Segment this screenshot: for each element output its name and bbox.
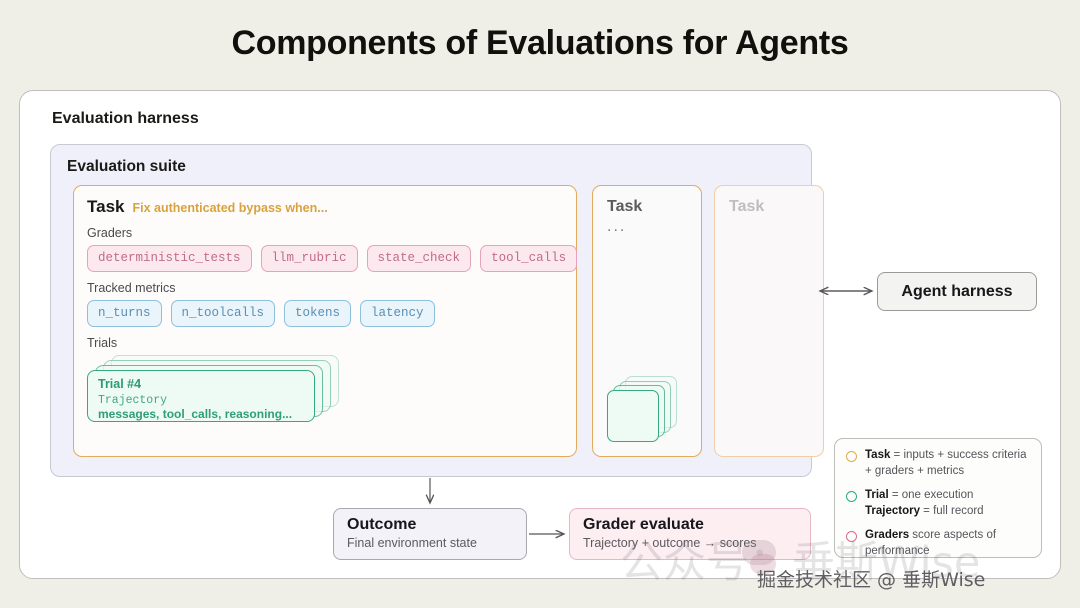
trials-label: Trials xyxy=(87,336,563,350)
tracked-metrics-label: Tracked metrics xyxy=(87,281,563,295)
trial-card-front xyxy=(607,390,659,442)
trial-title: Trial #4 xyxy=(98,377,304,391)
circle-icon xyxy=(846,491,857,502)
grader-chip[interactable]: state_check xyxy=(367,245,472,272)
task-card-second[interactable]: Task ... xyxy=(592,185,702,457)
agent-harness-box[interactable]: Agent harness xyxy=(877,272,1037,311)
trial-card-front[interactable]: Trial #4 Trajectory messages, tool_calls… xyxy=(87,370,315,422)
legend-item-text: Trial = one execution Trajectory = full … xyxy=(865,488,984,519)
task-ellipsis: ... xyxy=(607,218,687,236)
legend-term: Trial xyxy=(865,489,889,501)
metrics-chip-list: n_turns n_toolcalls tokens latency xyxy=(87,300,563,327)
watermark-logo-icon xyxy=(742,540,776,565)
outcome-subtitle: Final environment state xyxy=(347,536,513,550)
legend-rest: = inputs + success criteria + graders + … xyxy=(865,449,1027,477)
trials-stack-mini xyxy=(607,376,679,442)
metric-chip[interactable]: latency xyxy=(360,300,435,327)
outcome-title: Outcome xyxy=(347,516,513,534)
task-name: Task xyxy=(729,198,809,216)
graders-chip-list: deterministic_tests llm_rubric state_che… xyxy=(87,245,563,272)
trajectory-label: Trajectory xyxy=(98,394,304,407)
legend-rest-2: = full record xyxy=(920,505,984,517)
legend-item-trial: Trial = one execution Trajectory = full … xyxy=(846,488,1030,519)
task-description: Fix authenticated bypass when... xyxy=(133,201,328,215)
trajectory-items: messages, tool_calls, reasoning... xyxy=(98,407,304,421)
task-card-main[interactable]: Task Fix authenticated bypass when... Gr… xyxy=(73,185,577,457)
metric-chip[interactable]: n_toolcalls xyxy=(171,300,276,327)
grader-chip[interactable]: deterministic_tests xyxy=(87,245,252,272)
legend-term-2: Trajectory xyxy=(865,505,920,517)
legend-rest: = one execution xyxy=(889,489,974,501)
graders-label: Graders xyxy=(87,226,563,240)
grader-chip[interactable]: llm_rubric xyxy=(261,245,358,272)
metric-chip[interactable]: tokens xyxy=(284,300,351,327)
metric-chip[interactable]: n_turns xyxy=(87,300,162,327)
evaluation-suite-panel: Evaluation suite Task Fix authenticated … xyxy=(50,144,812,477)
task-name: Task xyxy=(87,197,125,217)
task-name: Task xyxy=(607,198,687,216)
watermark-text: 掘金技术社区 @ 垂斯Wise xyxy=(757,565,985,592)
page-title: Components of Evaluations for Agents xyxy=(0,0,1080,63)
outcome-box: Outcome Final environment state xyxy=(333,508,527,560)
legend-term: Task xyxy=(865,449,890,461)
legend-item-task: Task = inputs + success criteria + grade… xyxy=(846,448,1030,479)
grader-chip[interactable]: tool_calls xyxy=(480,245,577,272)
task-header: Task Fix authenticated bypass when... xyxy=(87,197,563,217)
trials-stack: Trial #4 Trajectory messages, tool_calls… xyxy=(87,355,563,427)
evaluation-harness-label: Evaluation harness xyxy=(52,110,199,128)
legend-item-text: Task = inputs + success criteria + grade… xyxy=(865,448,1030,479)
task-card-third[interactable]: Task xyxy=(714,185,824,457)
circle-icon xyxy=(846,451,857,462)
evaluation-suite-label: Evaluation suite xyxy=(67,158,186,176)
